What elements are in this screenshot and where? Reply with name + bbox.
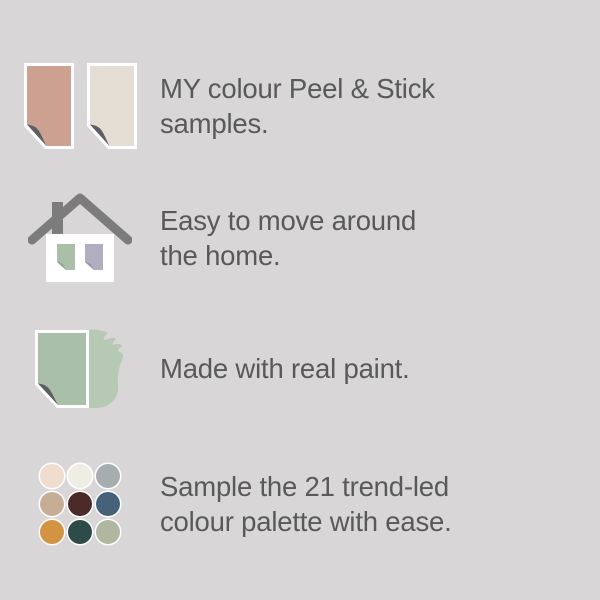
feature-row-trend-led-palette: Sample the 21 trend-led colour palette w… bbox=[0, 434, 600, 574]
roof bbox=[32, 198, 128, 240]
peel-swatch-right bbox=[87, 63, 137, 149]
palette-dot-8 bbox=[68, 520, 92, 544]
palette-dot-4 bbox=[40, 492, 64, 516]
feature-text: Sample the 21 trend-led colour palette w… bbox=[160, 469, 600, 539]
feature-text-line-1: Made with real paint. bbox=[160, 351, 570, 386]
two-peel-swatches-icon bbox=[21, 60, 139, 152]
feature-list: MY colour Peel & Stick samples. bbox=[0, 0, 600, 600]
feature-row-move-around-home: Easy to move around the home. bbox=[0, 172, 600, 304]
feature-text-line-1: Easy to move around bbox=[160, 203, 570, 238]
house-body bbox=[46, 234, 114, 282]
feature-text-line-2: colour palette with ease. bbox=[160, 504, 570, 539]
palette-dot-5 bbox=[68, 492, 92, 516]
palette-dot-row-1 bbox=[39, 463, 122, 490]
peel-swatch-left bbox=[24, 63, 74, 149]
feature-text: Easy to move around the home. bbox=[160, 203, 600, 273]
palette-dot-1 bbox=[40, 464, 64, 488]
feature-row-real-paint: Made with real paint. bbox=[0, 304, 600, 434]
icon-cell bbox=[0, 461, 160, 547]
feature-text-line-1: Sample the 21 trend-led bbox=[160, 469, 570, 504]
icon-cell bbox=[0, 60, 160, 152]
palette-dot-9 bbox=[96, 520, 120, 544]
palette-dot-6 bbox=[96, 492, 120, 516]
paint-swatch-brushstroke-icon bbox=[32, 327, 128, 411]
icon-cell bbox=[0, 327, 160, 411]
feature-text-line-2: samples. bbox=[160, 106, 570, 141]
feature-text-line-1: MY colour Peel & Stick bbox=[160, 71, 570, 106]
palette-dot-row-2 bbox=[39, 491, 122, 518]
feature-text-line-2: the home. bbox=[160, 238, 570, 273]
icon-cell bbox=[0, 188, 160, 288]
feature-row-peel-stick-samples: MY colour Peel & Stick samples. bbox=[0, 40, 600, 172]
palette-dot-3 bbox=[96, 464, 120, 488]
palette-dot-row-3 bbox=[39, 519, 122, 546]
feature-text: Made with real paint. bbox=[160, 351, 600, 386]
colour-palette-grid-icon bbox=[37, 461, 123, 547]
house-icon bbox=[28, 188, 132, 288]
feature-text: MY colour Peel & Stick samples. bbox=[160, 71, 600, 141]
palette-dot-2 bbox=[68, 464, 92, 488]
palette-dot-7 bbox=[40, 520, 64, 544]
